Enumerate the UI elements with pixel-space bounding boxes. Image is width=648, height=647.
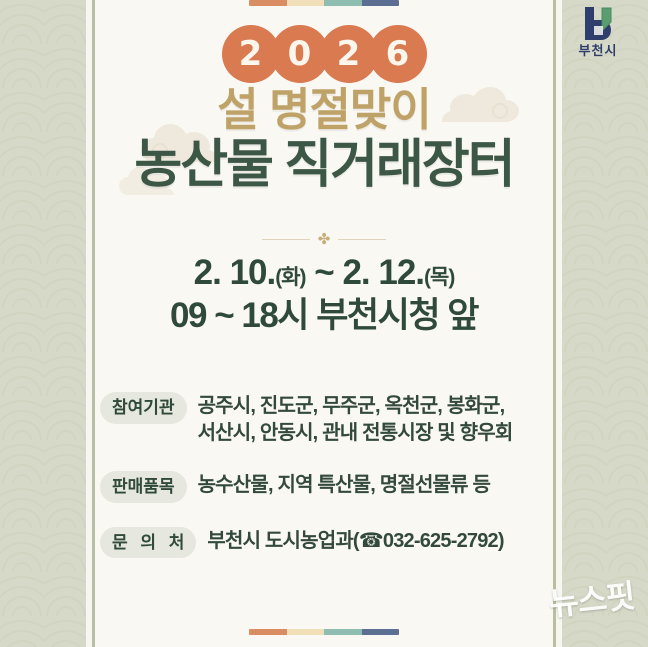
info-label: 참여기관 <box>100 392 187 424</box>
date-range-separator: ~ <box>306 253 343 292</box>
info-row: 문 의 처 부천시 도시농업과(☎032-625-2792) <box>100 527 570 559</box>
divider-rule-right <box>338 239 386 240</box>
color-bar-segment <box>287 629 325 635</box>
date-end-weekday: (목) <box>424 266 454 289</box>
date-range-line: 2. 10.(화) ~ 2. 12.(목) <box>0 252 648 293</box>
color-bar-segment <box>362 629 400 635</box>
info-section: 참여기관 공주시, 진도군, 무주군, 옥천군, 봉화군, 서산시, 안동시, … <box>100 392 570 558</box>
color-bar-top <box>249 0 399 6</box>
headline-line-2: 농산물 직거래장터 <box>0 137 648 193</box>
date-start-weekday: (화) <box>275 266 305 289</box>
date-start: 2. 10. <box>194 253 276 292</box>
year-digit: 6 <box>369 25 427 83</box>
info-value: 부천시 도시농업과(☎032-625-2792) <box>207 527 503 555</box>
color-bar-segment <box>362 0 400 6</box>
headline: 설 명절맞이 농산물 직거래장터 <box>0 86 648 193</box>
ornament-divider: ✤ <box>0 232 648 247</box>
color-bar-segment <box>249 629 287 635</box>
date-block: 2. 10.(화) ~ 2. 12.(목) 09 ~ 18시 부천시청 앞 <box>0 252 648 337</box>
info-label: 문 의 처 <box>100 527 196 559</box>
color-bar-segment <box>249 0 287 6</box>
info-value: 공주시, 진도군, 무주군, 옥천군, 봉화군, 서산시, 안동시, 관내 전통… <box>198 392 513 447</box>
info-value: 농수산물, 지역 특산물, 명절선물류 등 <box>198 471 491 499</box>
city-logo: 부천시 <box>560 4 636 57</box>
headline-line-1: 설 명절맞이 <box>0 86 648 135</box>
poster-root: 부천시 2 0 2 6 설 명절맞이 농산물 직거래장터 ✤ 2. 10.(화)… <box>0 0 648 647</box>
info-row: 판매품목 농수산물, 지역 특산물, 명절선물류 등 <box>100 471 570 503</box>
divider-rule-left <box>262 239 310 240</box>
bucheon-city-logo-icon <box>578 4 618 42</box>
color-bar-bottom <box>249 629 399 635</box>
time-and-venue-line: 09 ~ 18시 부천시청 앞 <box>0 295 648 336</box>
color-bar-segment <box>324 0 362 6</box>
city-logo-name: 부천시 <box>560 44 636 57</box>
info-label: 판매품목 <box>100 471 187 503</box>
year-badge: 2 0 2 6 <box>0 25 648 83</box>
info-row: 참여기관 공주시, 진도군, 무주군, 옥천군, 봉화군, 서산시, 안동시, … <box>100 392 570 447</box>
color-bar-segment <box>287 0 325 6</box>
flower-ornament-icon: ✤ <box>318 232 331 247</box>
date-end: 2. 12. <box>342 253 424 292</box>
color-bar-segment <box>324 629 362 635</box>
